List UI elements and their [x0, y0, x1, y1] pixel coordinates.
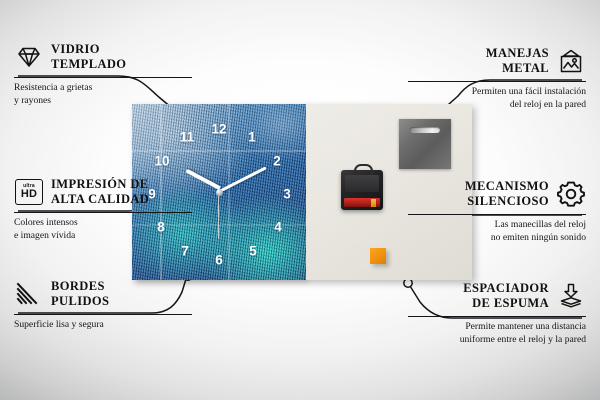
feature-description: Resistencia a grietas y rayones — [14, 82, 192, 107]
clock-numeral-7: 7 — [181, 244, 189, 258]
ultra-hd-badge: ultra HD — [15, 179, 43, 205]
clock-numeral-5: 5 — [249, 244, 257, 258]
battery-terminal — [371, 199, 376, 207]
feature-impresion-alta-calidad: ultra HD IMPRESIÓN DE ALTA CALIDAD Color… — [14, 175, 192, 243]
clock-numeral-3: 3 — [283, 187, 291, 201]
feature-desc-line1: Resistencia a grietas — [14, 82, 92, 93]
feature-title-line1: VIDRIO — [51, 42, 100, 56]
feature-title-line1: ESPACIADOR — [463, 281, 549, 295]
clock-numeral-1: 1 — [248, 130, 256, 144]
feature-divider — [408, 81, 586, 82]
feature-header: ultra HD IMPRESIÓN DE ALTA CALIDAD — [14, 175, 192, 209]
ultra-hd-icon: ultra HD — [14, 177, 44, 207]
clock-numeral-11: 11 — [180, 130, 194, 144]
feature-title: BORDES PULIDOS — [51, 279, 192, 309]
feature-desc-line1: Permite mantener una distancia — [465, 321, 586, 332]
feature-bordes-pulidos: BORDES PULIDOS Superficie lisa y segura — [14, 277, 192, 332]
hanging-frame-icon — [556, 46, 586, 76]
clock-numeral-12: 12 — [211, 122, 226, 136]
feature-title: IMPRESIÓN DE ALTA CALIDAD — [51, 177, 192, 207]
feature-description: Superficie lisa y segura — [14, 319, 192, 332]
feature-divider — [14, 77, 192, 78]
feature-header: MECANISMO SILENCIOSO — [408, 177, 586, 211]
feature-desc-line2: y rayones — [14, 95, 51, 106]
feature-title-line1: MANEJAS — [486, 46, 549, 60]
feature-description: Las manecillas del reloj no emiten ningú… — [408, 219, 586, 244]
clock-center-hub — [216, 189, 223, 196]
feature-mecanismo-silencioso: MECANISMO SILENCIOSO Las manecillas del … — [408, 177, 586, 245]
feature-title-line2: TEMPLADO — [51, 57, 126, 71]
clock-second-hand — [218, 191, 219, 239]
feature-desc-line2: uniforme entre el reloj y la pared — [460, 334, 586, 345]
ultra-hd-badge-main: HD — [21, 189, 37, 200]
feature-header: ESPACIADOR DE ESPUMA — [408, 279, 586, 313]
clock-numeral-4: 4 — [274, 220, 282, 234]
feature-vidrio-templado: VIDRIO TEMPLADO Resistencia a grietas y … — [14, 40, 192, 108]
feature-espaciador-de-espuma: ESPACIADOR DE ESPUMA Permite mantener un… — [408, 279, 586, 347]
feature-title: MECANISMO SILENCIOSO — [408, 179, 549, 209]
battery — [344, 198, 380, 207]
feature-desc-line1: Las manecillas del reloj — [495, 219, 586, 230]
gear-icon — [556, 179, 586, 209]
foam-spacer-pad — [370, 248, 386, 264]
feature-divider — [408, 316, 586, 317]
infographic-canvas: 12 1 2 3 4 5 6 7 8 9 10 11 — [0, 0, 600, 400]
clock-numeral-10: 10 — [154, 154, 169, 168]
feature-title: MANEJAS METAL — [408, 46, 549, 76]
foam-spacer-icon — [556, 281, 586, 311]
feature-title-line1: BORDES — [51, 279, 105, 293]
feature-title-line1: MECANISMO — [465, 179, 549, 193]
feature-divider — [408, 214, 586, 215]
feature-divider — [14, 212, 192, 213]
feature-description: Permiten una fácil instalación del reloj… — [408, 86, 586, 111]
clock-numeral-2: 2 — [273, 154, 281, 168]
feature-title-line2: ALTA CALIDAD — [51, 192, 149, 206]
polished-edge-icon — [14, 279, 44, 309]
movement-hanging-loop — [354, 164, 373, 175]
hanger-slot — [410, 127, 440, 133]
feature-desc-line1: Superficie lisa y segura — [14, 319, 104, 330]
feature-title: VIDRIO TEMPLADO — [51, 42, 192, 72]
feature-title-line2: METAL — [502, 61, 549, 75]
movement-body — [345, 175, 379, 192]
feature-desc-line1: Colores intensos — [14, 217, 78, 228]
diamond-icon — [14, 42, 44, 72]
feature-header: MANEJAS METAL — [408, 44, 586, 78]
feature-title: ESPACIADOR DE ESPUMA — [408, 281, 549, 311]
clock-numeral-6: 6 — [215, 253, 223, 267]
feature-desc-line2: del reloj en la pared — [510, 99, 586, 110]
quartz-movement — [341, 170, 383, 210]
feature-desc-line2: e imagen vívida — [14, 230, 75, 241]
feature-header: BORDES PULIDOS — [14, 277, 192, 311]
feature-title-line2: PULIDOS — [51, 294, 109, 308]
feature-title-line1: IMPRESIÓN DE — [51, 177, 149, 191]
feature-description: Colores intensos e imagen vívida — [14, 217, 192, 242]
metal-hanger-plate-icon — [399, 119, 451, 169]
feature-divider — [14, 314, 192, 315]
feature-header: VIDRIO TEMPLADO — [14, 40, 192, 74]
feature-description: Permite mantener una distancia uniforme … — [408, 321, 586, 346]
feature-title-line2: SILENCIOSO — [467, 194, 549, 208]
feature-desc-line2: no emiten ningún sonido — [491, 232, 586, 243]
feature-manejas-metal: MANEJAS METAL Permiten una fácil instala… — [408, 44, 586, 112]
feature-title-line2: DE ESPUMA — [472, 296, 549, 310]
feature-desc-line1: Permiten una fácil instalación — [472, 86, 586, 97]
